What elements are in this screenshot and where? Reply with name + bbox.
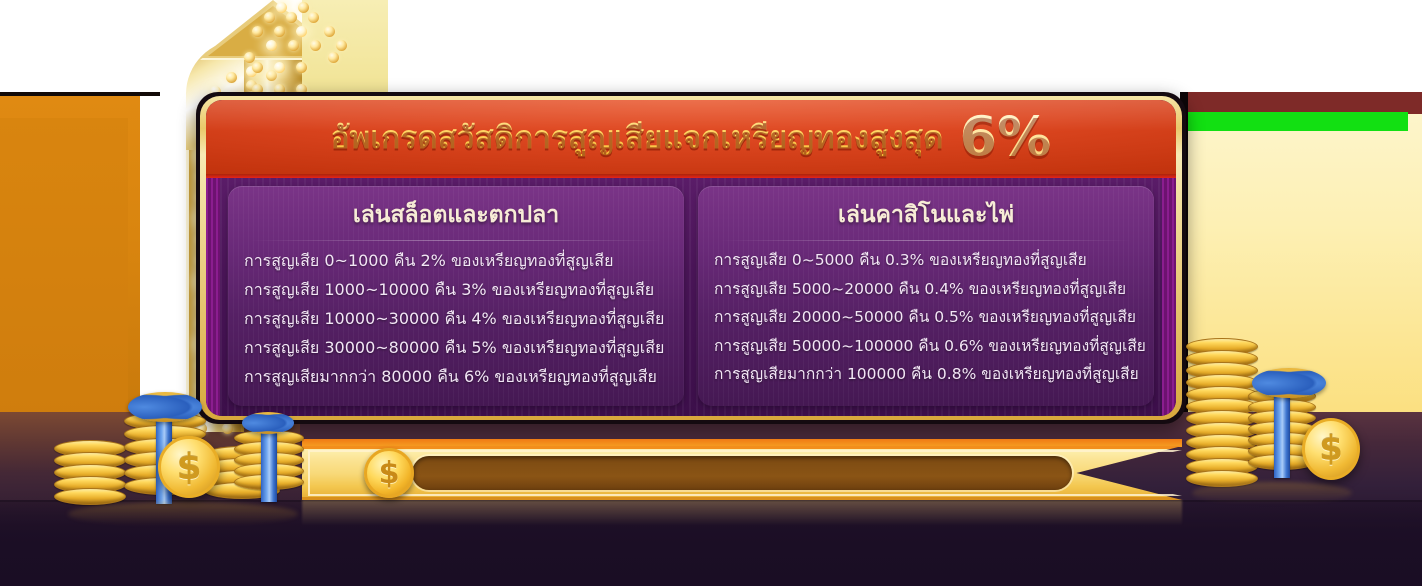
marquee-bulb-icon (252, 62, 263, 73)
ribbon-text-slot[interactable] (412, 456, 1072, 490)
marquee-bulb-icon (308, 12, 319, 23)
marquee-bulb-icon (328, 52, 339, 63)
list-item: การสูญเสียมากกว่า 100000 คืน 0.8% ของเหร… (714, 361, 1138, 390)
ribbon-top-accent (302, 439, 1182, 447)
marquee-bulb-icon (296, 62, 307, 73)
title-row: อัพเกรดสวัสดิการสูญเสียแจกเหรียญทองสูงสุ… (206, 100, 1176, 178)
ribbon-reflection (302, 500, 1182, 526)
marquee-bulb-icon (310, 40, 321, 51)
banner-title-bar: อัพเกรดสวัสดิการสูญเสียแจกเหรียญทองสูงสุ… (206, 100, 1176, 178)
coin-reflection (68, 502, 298, 526)
dollar-coin-icon: $ (364, 448, 414, 498)
marquee-bulb-icon (286, 12, 297, 23)
panel-heading: เล่นสล็อตและตกปลา (244, 194, 668, 240)
banner-title-percent: 6% (960, 110, 1052, 164)
panel-container: เล่นสล็อตและตกปลา การสูญเสีย 0~1000 คืน … (206, 178, 1176, 416)
dollar-coin-large: $ (158, 436, 220, 498)
list-item: การสูญเสีย 20000~50000 คืน 0.5% ของเหรีย… (714, 304, 1138, 333)
list-item: การสูญเสีย 30000~80000 คืน 5% ของเหรียญท… (244, 334, 668, 363)
panel-divider (720, 240, 1132, 241)
gift-ribbon-vertical (261, 426, 277, 502)
panel-rewards-list: การสูญเสีย 0~5000 คืน 0.3% ของเหรียญทองท… (714, 247, 1138, 390)
dollar-coin-large: $ (1302, 418, 1360, 480)
gift-bow-icon (1252, 368, 1326, 398)
banner-frame-inner: อัพเกรดสวัสดิการสูญเสียแจกเหรียญทองสูงสุ… (206, 100, 1176, 416)
gift-ribbon-vertical (1274, 386, 1290, 478)
coin-disc (54, 488, 126, 505)
coin-cluster-right: $ (1178, 330, 1378, 510)
marquee-bulb-icon (266, 40, 277, 51)
background-plate-maroon (1186, 92, 1422, 114)
marquee-bulb-icon (244, 52, 255, 63)
marquee-bulb-icon (252, 26, 263, 37)
frame-side-band-right (1162, 178, 1176, 416)
coin-cluster-left: $ (28, 376, 328, 516)
promo-banner-stage: อัพเกรดสวัสดิการสูญเสียแจกเหรียญทองสูงสุ… (0, 0, 1422, 586)
background-bar-green (1186, 112, 1408, 131)
panel-divider (250, 240, 662, 241)
list-item: การสูญเสีย 5000~20000 คืน 0.4% ของเหรียญ… (714, 276, 1138, 305)
marquee-bulb-icon (274, 62, 285, 73)
marquee-bulb-icon (288, 40, 299, 51)
gift-bow-icon (128, 392, 202, 422)
marquee-bulb-icon (274, 26, 285, 37)
list-item: การสูญเสีย 0~1000 คืน 2% ของเหรียญทองที่… (244, 247, 668, 276)
banner-title-text: อัพเกรดสวัสดิการสูญเสียแจกเหรียญทองสูงสุ… (331, 112, 944, 162)
panel-casino-cards: เล่นคาสิโนและไพ่ การสูญเสีย 0~5000 คืน 0… (698, 186, 1154, 406)
list-item: การสูญเสีย 1000~10000 คืน 3% ของเหรียญทอ… (244, 276, 668, 305)
panel-rewards-list: การสูญเสีย 0~1000 คืน 2% ของเหรียญทองที่… (244, 247, 668, 392)
list-item: การสูญเสีย 50000~100000 คืน 0.6% ของเหรี… (714, 333, 1138, 362)
marquee-bulb-icon (226, 72, 237, 83)
list-item: การสูญเสีย 0~5000 คืน 0.3% ของเหรียญทองท… (714, 247, 1138, 276)
list-item: การสูญเสีย 10000~30000 คืน 4% ของเหรียญท… (244, 305, 668, 334)
gift-bow-icon (242, 412, 294, 434)
marquee-bulb-icon (324, 26, 335, 37)
marquee-bulb-icon (264, 12, 275, 23)
background-strip-dark (0, 92, 160, 96)
gold-ribbon-bar[interactable]: $ (302, 446, 1182, 500)
marquee-bulb-icon (336, 40, 347, 51)
coin-reflection (1192, 482, 1352, 504)
marquee-bulb-icon (298, 2, 309, 13)
background-plate-orange-inner (0, 118, 128, 418)
panel-heading: เล่นคาสิโนและไพ่ (714, 194, 1138, 240)
marquee-bulb-icon (276, 2, 287, 13)
marquee-bulb-icon (296, 26, 307, 37)
banner-body: เล่นสล็อตและตกปลา การสูญเสีย 0~1000 คืน … (206, 178, 1176, 416)
panel-slots-fishing: เล่นสล็อตและตกปลา การสูญเสีย 0~1000 คืน … (228, 186, 684, 406)
